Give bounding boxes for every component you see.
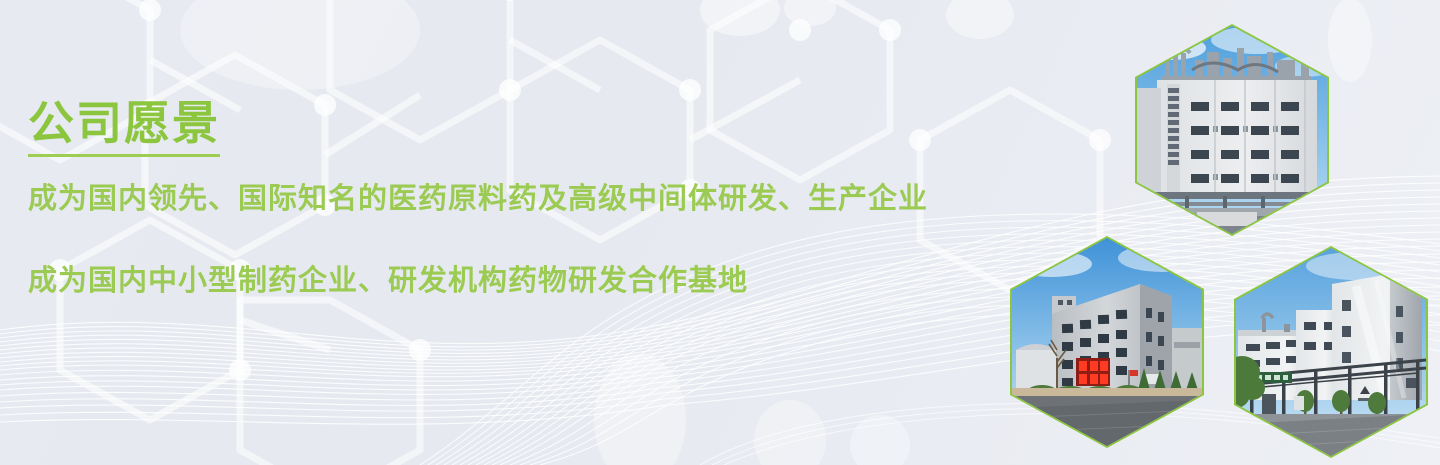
company-vision-banner: 公司愿景 成为国内领先、国际知名的医药原料药及高级中间体研发、生产企业 成为国内… [0, 0, 1440, 465]
workshop-with-pipe-rack-photo [1236, 248, 1426, 456]
page-title: 公司愿景 [28, 96, 220, 157]
photo-bottom-right-content [1236, 248, 1426, 456]
vision-statement-line-2: 成为国内中小型制药企业、研发机构药物研发合作基地 [28, 257, 1068, 299]
photo-top-content [1137, 26, 1327, 234]
pharmaceutical-production-building-photo [1137, 26, 1327, 234]
vision-text-block: 公司愿景 成为国内领先、国际知名的医药原料药及高级中间体研发、生产企业 成为国内… [28, 96, 1068, 299]
vision-statement-line-1: 成为国内领先、国际知名的医药原料药及高级中间体研发、生产企业 [28, 175, 1068, 217]
